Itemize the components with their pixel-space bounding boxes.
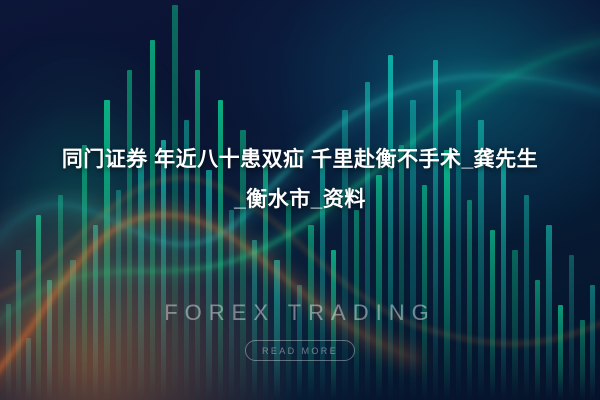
watermark: FOREX TRADING READ MORE (0, 300, 600, 361)
page-title: 同门证券 年近八十患双疝 千里赴衡不手术_龚先生 _衡水市_资料 (0, 140, 600, 220)
watermark-title: FOREX TRADING (0, 300, 600, 326)
read-more-button[interactable]: READ MORE (245, 340, 355, 361)
headline-line-2: _衡水市_资料 (8, 180, 592, 220)
headline-line-1: 同门证券 年近八十患双疝 千里赴衡不手术_龚先生 (8, 140, 592, 180)
promo-banner: 同门证券 年近八十患双疝 千里赴衡不手术_龚先生 _衡水市_资料 FOREX T… (0, 0, 600, 400)
